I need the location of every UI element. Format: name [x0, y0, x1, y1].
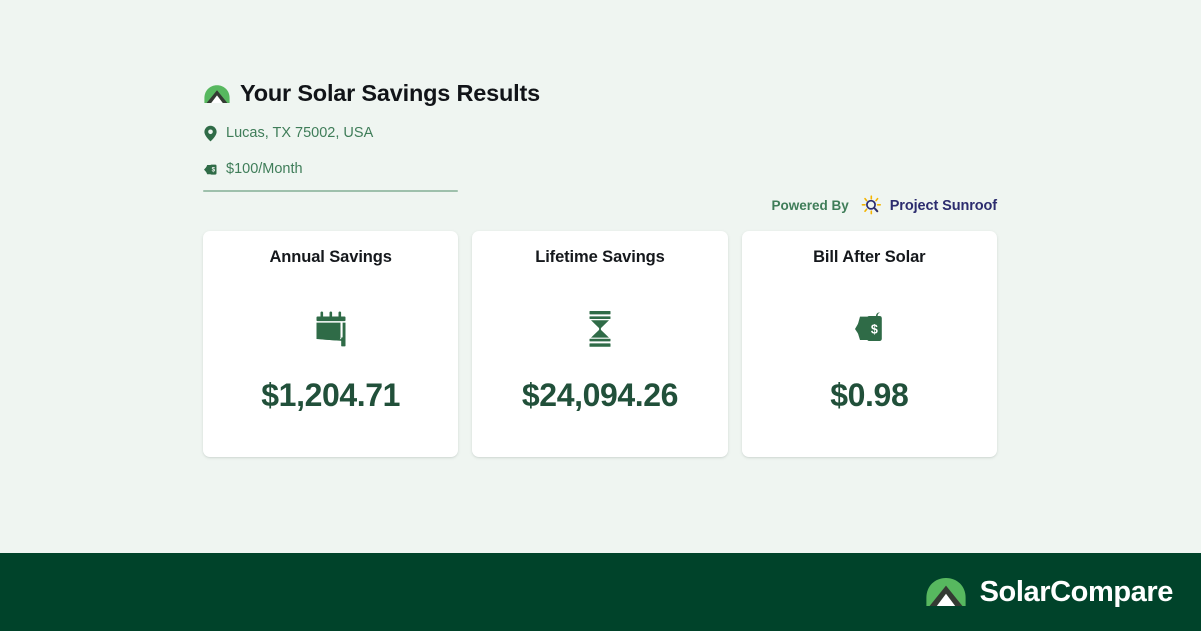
location-row: Lucas, TX 75002, USA: [203, 125, 1003, 142]
savings-cards: Annual Savings $1,204.71 Lifetime Saving…: [203, 231, 997, 457]
header-divider: [203, 190, 458, 192]
monthly-bill-row: $ $100/Month: [203, 161, 1003, 178]
solar-compare-mark-icon: [924, 576, 968, 608]
solar-compare-mark-icon: [203, 84, 231, 104]
powered-by-label: Powered By: [771, 199, 848, 213]
footer-brand[interactable]: SolarCompare: [924, 576, 1173, 608]
results-header: Your Solar Savings Results Lucas, TX 750…: [203, 82, 1003, 178]
page-title-row: Your Solar Savings Results: [203, 82, 1003, 106]
card-annual-savings: Annual Savings $1,204.71: [203, 231, 458, 457]
project-sunroof-text: Project Sunroof: [890, 199, 997, 214]
price-tag-dollar-icon: $: [847, 307, 891, 351]
site-footer: SolarCompare: [0, 553, 1201, 631]
card-title: Bill After Solar: [813, 248, 925, 268]
money-tag-icon: $: [203, 161, 218, 178]
card-value: $1,204.71: [203, 377, 458, 414]
sun-magnifier-icon: [858, 195, 885, 217]
hourglass-icon: [578, 307, 622, 351]
location-pin-icon: [203, 125, 218, 142]
monthly-bill-text: $100/Month: [226, 162, 303, 177]
project-sunroof-logo[interactable]: Project Sunroof: [858, 195, 997, 217]
svg-text:$: $: [871, 323, 878, 337]
powered-by: Powered By Project Sunroof: [771, 195, 997, 217]
results-page: Your Solar Savings Results Lucas, TX 750…: [0, 0, 1201, 631]
svg-text:$: $: [212, 166, 216, 173]
card-title: Lifetime Savings: [535, 248, 665, 268]
footer-brand-name: SolarCompare: [980, 578, 1173, 607]
calendar-icon: [309, 307, 353, 351]
page-title: Your Solar Savings Results: [240, 82, 540, 106]
card-bill-after-solar: Bill After Solar $ $0.98: [742, 231, 997, 457]
card-lifetime-savings: Lifetime Savings $24,094.26: [472, 231, 727, 457]
card-value: $24,094.26: [472, 377, 727, 414]
card-value: $0.98: [742, 377, 997, 414]
location-text: Lucas, TX 75002, USA: [226, 126, 373, 141]
card-title: Annual Savings: [269, 248, 391, 268]
